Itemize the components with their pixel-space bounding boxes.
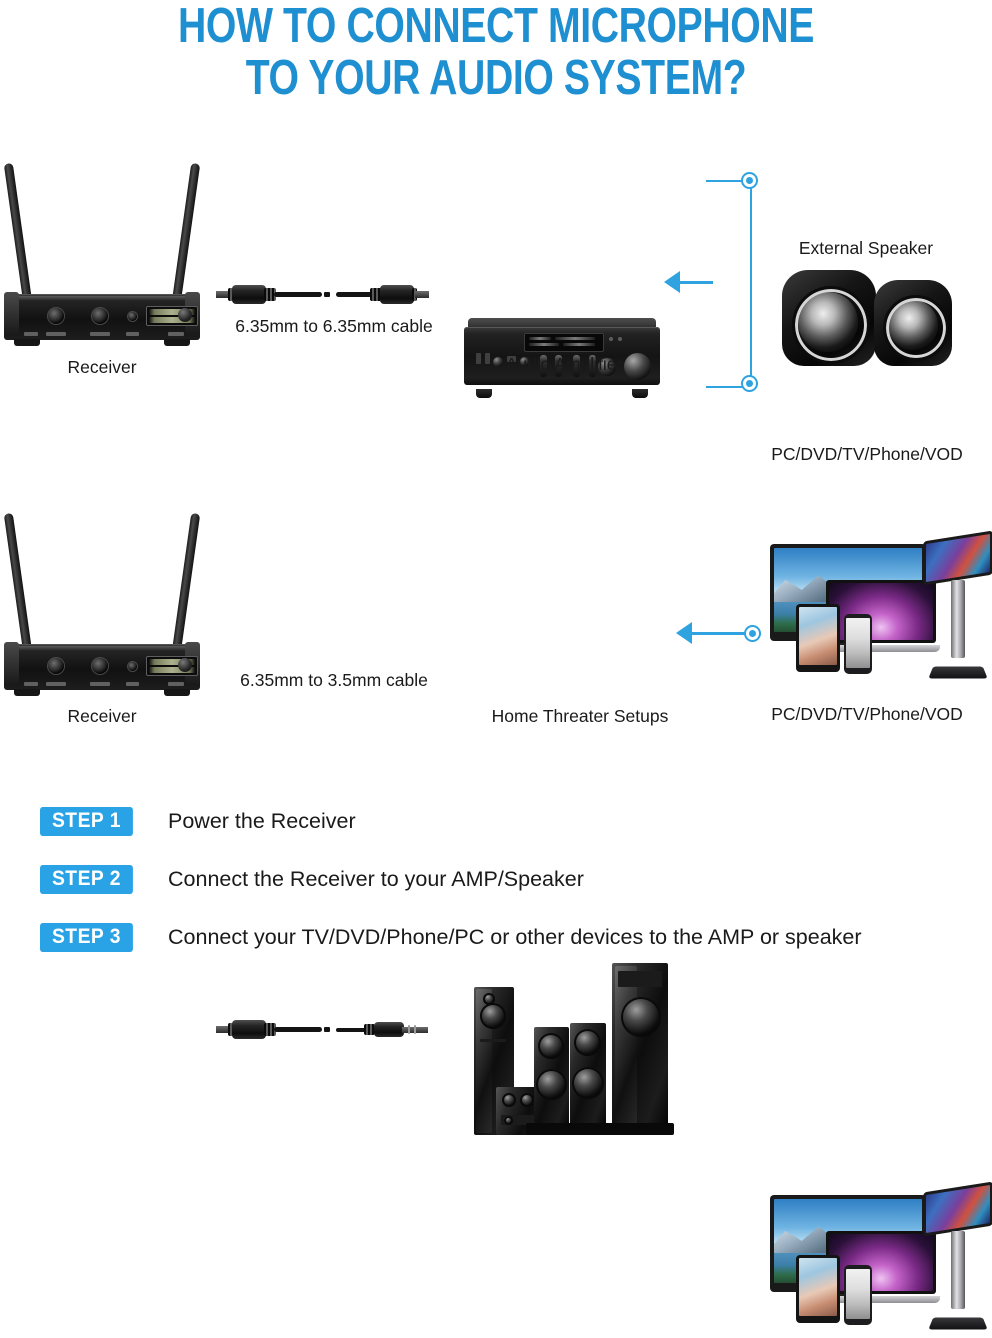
amplifier-label: Audio Amplifier	[444, 354, 684, 375]
connector-dot-devices-row1[interactable]	[741, 375, 758, 392]
connector-arrow-row2	[676, 622, 692, 644]
plug-barrel-right-35	[374, 1022, 404, 1037]
connector-arrow-row1	[664, 271, 680, 293]
ht-tower-right-tweeter-panel	[618, 971, 662, 987]
receiver-foot-right	[164, 339, 190, 346]
amplifier-foot-left	[476, 389, 492, 398]
speaker-left-enclosure	[782, 270, 876, 366]
step-row-1: STEP 1 Power the Receiver	[40, 792, 970, 850]
receiver-port-label-5	[168, 682, 184, 686]
connector-dot-devices-row2[interactable]	[744, 625, 761, 642]
kiosk-base	[928, 667, 987, 679]
receiver-mic-jack-1	[48, 658, 64, 674]
receiver-rack-ear-left	[4, 642, 19, 684]
receiver-mic-jack-2	[92, 308, 108, 324]
phone-screen	[846, 1269, 870, 1319]
external-speaker-device	[778, 266, 954, 366]
cable-label-row2: 6.35mm to 3.5mm cable	[204, 670, 464, 691]
ht-tower-left-driver-1	[480, 1003, 506, 1029]
amplifier-foot-right	[632, 389, 648, 398]
receiver-port-label-5	[168, 332, 184, 336]
receiver-device-row2	[2, 508, 202, 698]
cable-wire-right	[336, 1028, 366, 1032]
ht-col2-woofer	[572, 1067, 604, 1099]
receiver-volume-knob	[178, 308, 192, 322]
page-title: HOW TO CONNECT MICROPHONE TO YOUR AUDIO …	[0, 2, 992, 104]
plug-ring-2	[414, 1025, 416, 1034]
ht-tower-right-woofer	[621, 997, 661, 1037]
receiver-label-row2: Receiver	[2, 706, 202, 727]
receiver-device-row1	[2, 158, 202, 348]
speaker-left-driver-ring	[792, 286, 870, 364]
tablet-device	[796, 604, 840, 672]
step-badge-1: STEP 1	[40, 807, 133, 836]
step-text-2: Connect the Receiver to your AMP/Speaker	[168, 867, 584, 892]
plug-barrel-left	[232, 285, 266, 304]
ht-col2-mid-driver	[574, 1029, 601, 1056]
ht-speaker-column-2	[570, 1023, 606, 1135]
speaker-right-enclosure	[874, 280, 952, 366]
tablet-screen	[799, 1258, 837, 1316]
ht-tower-left-port	[480, 1039, 506, 1042]
title-line-2: TO YOUR AUDIO SYSTEM?	[99, 54, 893, 104]
ht-col1-mid-driver	[538, 1033, 564, 1059]
speaker-right-driver-ring	[883, 295, 949, 361]
display-segment-1	[529, 337, 551, 340]
display-segment-4	[563, 343, 595, 346]
receiver-port-label-2	[46, 332, 66, 336]
receiver-mic-jack-1	[48, 308, 64, 324]
receiver-top-strip	[10, 646, 194, 650]
kiosk-screen-content	[926, 534, 990, 582]
connector-bracket-row1	[706, 180, 752, 388]
laptop-lid	[826, 580, 936, 643]
receiver-port-label-1	[24, 682, 38, 686]
receiver-port-label-4	[126, 682, 139, 686]
plug-barrel-right	[380, 285, 414, 304]
ht-av-knob-left	[504, 1116, 513, 1125]
kiosk-base	[928, 1318, 987, 1330]
external-speaker-label: External Speaker	[768, 238, 964, 259]
display-segment-3	[529, 343, 559, 346]
ht-tower-right	[612, 963, 668, 1135]
phone-screen	[846, 618, 870, 668]
receiver-port-label-4	[126, 332, 139, 336]
amplifier-indicator-2	[618, 337, 622, 341]
device-cluster-row2	[760, 1183, 992, 1338]
tablet-screen	[799, 607, 837, 665]
ht-center-driver-2	[520, 1093, 534, 1107]
ht-col1-woofer	[536, 1069, 567, 1100]
kiosk-display-device	[921, 1183, 992, 1331]
receiver-chassis	[4, 294, 200, 340]
kiosk-screen	[923, 1181, 992, 1236]
kiosk-pole	[951, 580, 965, 658]
plug-ring-1	[408, 1025, 410, 1034]
connector-stem-row1	[679, 281, 713, 284]
kiosk-screen	[923, 530, 992, 585]
receiver-top-strip	[10, 296, 194, 300]
step-badge-2: STEP 2	[40, 865, 133, 894]
step-row-2: STEP 2 Connect the Receiver to your AMP/…	[40, 850, 970, 908]
ht-base-shelf	[526, 1123, 674, 1135]
kiosk-screen-content	[926, 1185, 990, 1233]
receiver-mic-jack-2	[92, 658, 108, 674]
cable-wire-left	[274, 292, 322, 297]
receiver-mix-out-jack	[128, 662, 137, 671]
steps-list: STEP 1 Power the Receiver STEP 2 Connect…	[40, 792, 970, 966]
receiver-port-label-3	[90, 332, 110, 336]
cable-break-marker	[324, 1027, 330, 1032]
phone-device	[844, 614, 872, 674]
ht-tower-left-tweeter	[483, 993, 495, 1005]
cable-label-row1: 6.35mm to 6.35mm cable	[204, 316, 464, 337]
devices-label-row2: PC/DVD/TV/Phone/VOD	[742, 704, 992, 725]
kiosk-display-device	[921, 532, 992, 680]
connector-dot-speaker[interactable]	[741, 172, 758, 189]
kiosk-pole	[951, 1231, 965, 1309]
receiver-foot-left	[14, 689, 40, 696]
step-row-3: STEP 3 Connect your TV/DVD/Phone/PC or o…	[40, 908, 970, 966]
connector-stem-row2	[690, 632, 752, 635]
cable-635-to-35	[214, 1007, 450, 1053]
receiver-port-label-2	[46, 682, 66, 686]
cable-635-to-635	[214, 272, 450, 318]
phone-device	[844, 1265, 872, 1325]
plug-barrel-left	[232, 1020, 266, 1039]
receiver-port-label-3	[90, 682, 110, 686]
receiver-volume-knob	[178, 658, 192, 672]
receiver-foot-right	[164, 689, 190, 696]
amplifier-display	[524, 333, 604, 352]
home-theater-label: Home Threater Setups	[460, 706, 700, 727]
cable-wire-right	[336, 292, 372, 297]
device-cluster-row1	[760, 532, 992, 687]
cable-break-marker	[324, 292, 330, 297]
cable-wire-left	[274, 1027, 322, 1032]
step-text-1: Power the Receiver	[168, 809, 356, 834]
ht-speaker-column-1	[534, 1027, 569, 1135]
ht-tower-right-gloss	[615, 966, 637, 1132]
display-segment-2	[555, 337, 595, 340]
receiver-label-row1: Receiver	[2, 357, 202, 378]
plug-tip-right	[415, 291, 429, 298]
tablet-device	[796, 1255, 840, 1323]
receiver-port-label-1	[24, 332, 38, 336]
step-badge-3: STEP 3	[40, 923, 133, 952]
receiver-rack-ear-left	[4, 292, 19, 334]
laptop-lid	[826, 1231, 936, 1294]
ht-center-driver-1	[502, 1093, 516, 1107]
title-line-1: HOW TO CONNECT MICROPHONE	[99, 2, 893, 52]
devices-label-row1: PC/DVD/TV/Phone/VOD	[742, 444, 992, 465]
receiver-foot-left	[14, 339, 40, 346]
step-text-3: Connect your TV/DVD/Phone/PC or other de…	[168, 925, 862, 950]
amplifier-indicator-1	[609, 337, 613, 341]
receiver-chassis	[4, 644, 200, 690]
receiver-mix-out-jack	[128, 312, 137, 321]
